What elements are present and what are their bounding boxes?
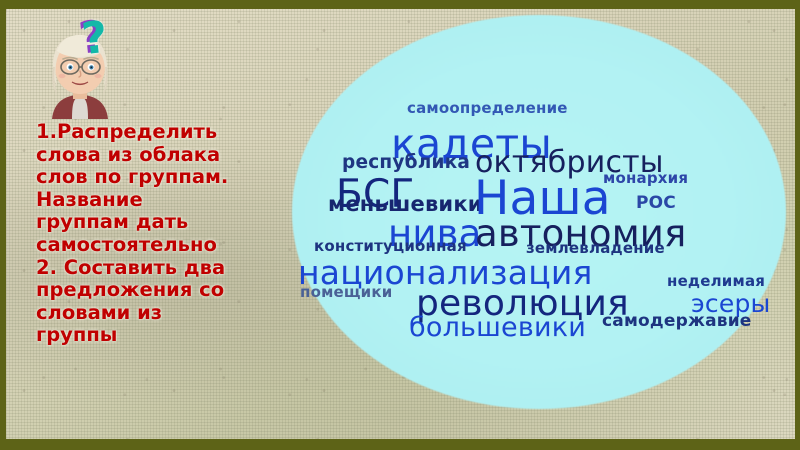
instruction-line: словами из	[36, 302, 266, 325]
avatar: ?	[34, 15, 126, 119]
instruction-line: Название	[36, 189, 266, 212]
cloud-word: самоопределение	[407, 101, 568, 116]
cloud-word: помещики	[300, 285, 393, 300]
cloud-word: самодержавие	[602, 313, 752, 330]
cloud-word: РОС	[636, 195, 676, 212]
slide-canvas: самоопределениекадетыреспубликаоктябрист…	[0, 0, 800, 450]
cloud-word: большевики	[409, 314, 586, 341]
word-cloud: самоопределениекадетыреспубликаоктябрист…	[292, 15, 786, 409]
instruction-line: слова из облака	[36, 144, 266, 167]
instructions-text: 1.Распределитьслова из облакаслов по гру…	[36, 121, 266, 347]
teacher-bitmoji-icon	[34, 15, 126, 119]
question-mark-icon: ?	[80, 16, 110, 62]
instruction-line: самостоятельно	[36, 234, 266, 257]
cloud-word: конституционная	[314, 239, 467, 254]
cloud-word: республика	[342, 154, 470, 173]
instruction-line: группам дать	[36, 211, 266, 234]
instruction-line: 1.Распределить	[36, 121, 266, 144]
instruction-line: группы	[36, 324, 266, 347]
instruction-line: предложения со	[36, 279, 266, 302]
instruction-line: 2. Составить два	[36, 257, 266, 280]
instruction-line: слов по группам.	[36, 166, 266, 189]
cloud-word: монархия	[603, 171, 688, 186]
cloud-word: неделимая	[667, 274, 765, 289]
